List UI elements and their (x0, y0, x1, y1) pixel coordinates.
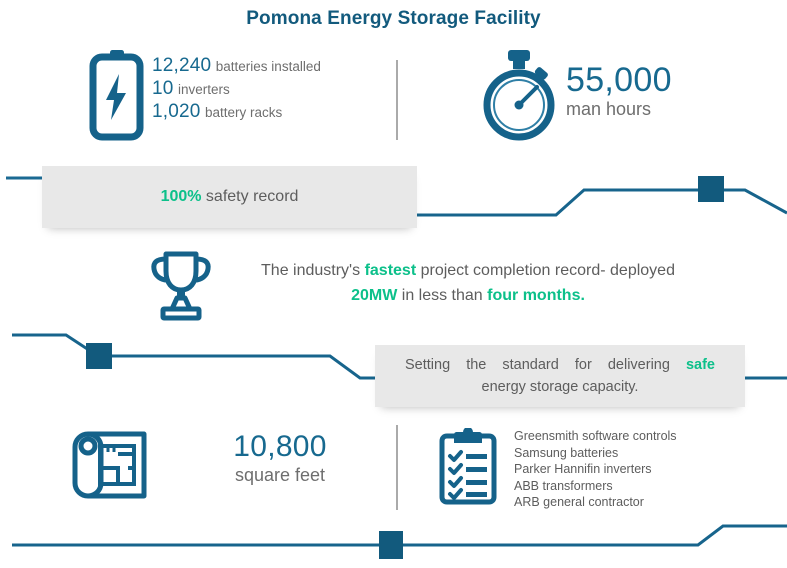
battery-row-value: 12,240 (152, 55, 211, 76)
safety-record-label: safety record (201, 188, 298, 205)
record-statement: The industry's fastest project completio… (248, 258, 688, 308)
battery-row-label: inverters (178, 82, 230, 97)
standard-line1-pre: Setting the standard for delivering (405, 357, 686, 373)
battery-icon (88, 48, 144, 149)
area-stat-text: 10,800 square feet (180, 430, 380, 487)
standard-highlight-safe: safe (686, 357, 715, 373)
battery-row: 12,240 batteries installed (152, 55, 402, 78)
standard-statement-text: Setting the standard for delivering safe… (405, 354, 715, 398)
safety-record-banner: 100% safety record (42, 166, 417, 228)
page-title: Pomona Energy Storage Facility (0, 8, 787, 30)
list-item: Greensmith software controls (514, 428, 764, 445)
decor-line-middle (12, 335, 375, 378)
battery-row-value: 10 (152, 78, 174, 99)
manhours-stat-text: 55,000 man hours (566, 62, 672, 120)
safety-record-text: 100% safety record (161, 188, 299, 206)
divider-bottom (396, 425, 398, 510)
divider-top (396, 60, 398, 140)
standard-line-1: Setting the standard for delivering safe (405, 354, 715, 376)
battery-row: 1,020 battery racks (152, 101, 402, 124)
decor-node-middle (86, 343, 112, 369)
record-highlight-months: four months. (487, 287, 585, 304)
area-value: 10,800 (180, 430, 380, 464)
battery-row-label: battery racks (205, 105, 282, 120)
standard-line-2: energy storage capacity. (405, 376, 715, 398)
record-line2-pre: deployed (610, 262, 675, 279)
list-item: ABB transformers (514, 478, 764, 495)
infographic-canvas: Pomona Energy Storage Facility 12,240 ba… (0, 0, 787, 568)
battery-row-value: 1,020 (152, 101, 201, 122)
vendor-list: Greensmith software controls Samsung bat… (514, 428, 764, 511)
record-highlight-mw: 20MW (351, 287, 397, 304)
list-item: Parker Hannifin inverters (514, 461, 764, 478)
decor-node-bottom (379, 531, 403, 559)
battery-row-label: batteries installed (216, 59, 321, 74)
manhours-value: 55,000 (566, 62, 672, 98)
record-line1-pre: The industry's (261, 262, 365, 279)
clipboard-icon (437, 428, 499, 511)
record-line1-post: project completion record- (416, 262, 605, 279)
area-label: square feet (180, 464, 380, 487)
record-highlight-fastest: fastest (365, 262, 417, 279)
battery-stat-text: 12,240 batteries installed 10 inverters … (152, 55, 402, 124)
trophy-icon (148, 249, 214, 326)
decor-node-upper (698, 176, 724, 202)
record-line2-mid: in less than (397, 287, 487, 304)
stopwatch-icon (478, 50, 560, 147)
battery-row: 10 inverters (152, 78, 402, 101)
standard-statement-banner: Setting the standard for delivering safe… (375, 345, 745, 407)
decor-line-bottom (12, 526, 787, 545)
safety-record-percent: 100% (161, 188, 202, 205)
manhours-label: man hours (566, 98, 672, 120)
blueprint-icon (70, 424, 158, 507)
list-item: ARB general contractor (514, 494, 764, 511)
list-item: Samsung batteries (514, 445, 764, 462)
